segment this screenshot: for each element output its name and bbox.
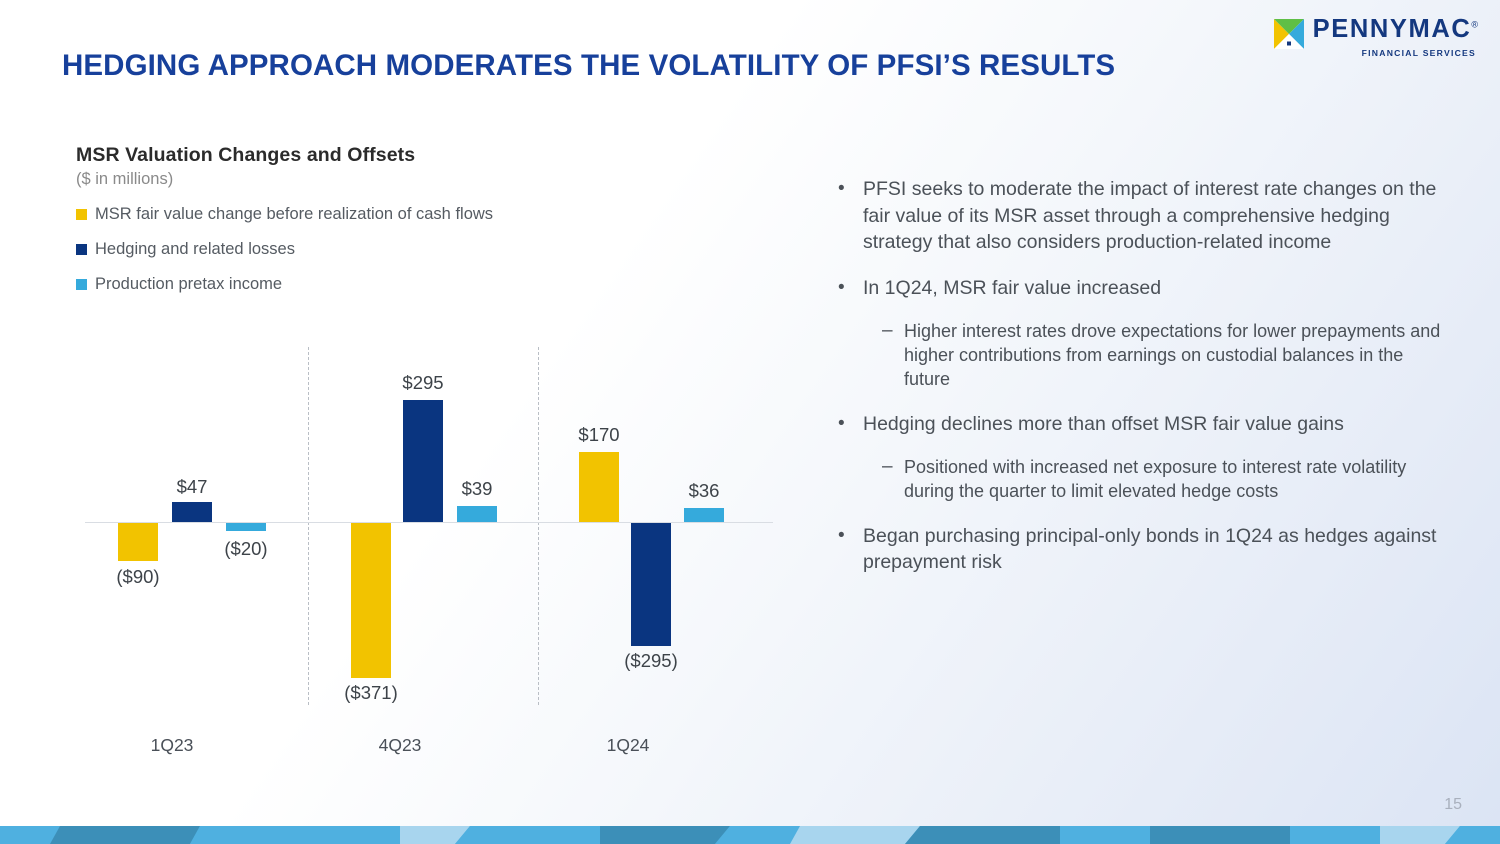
bar-label-1q24-production-pretax: $36	[644, 480, 764, 502]
bar-1q24-msr-fair-value	[579, 452, 619, 522]
logo-wordmark-text: PENNYMAC	[1313, 15, 1472, 43]
bullet-text: PFSI seeks to moderate the impact of int…	[863, 176, 1450, 256]
bar-1q24-hedging-losses	[631, 523, 671, 646]
chart-subtitle: ($ in millions)	[76, 170, 796, 189]
bullet-item: • PFSI seeks to moderate the impact of i…	[838, 176, 1450, 256]
logo-tagline: FINANCIAL SERVICES	[1362, 48, 1476, 58]
group-separator-1	[308, 347, 309, 705]
bar-1q23-msr-fair-value	[118, 523, 158, 561]
chart-title: MSR Valuation Changes and Offsets	[76, 144, 796, 167]
bullet-item-sub: – Positioned with increased net exposure…	[882, 455, 1450, 503]
logo-registered-mark: ®	[1471, 20, 1478, 30]
bullet-marker: •	[838, 523, 863, 576]
page-number: 15	[1444, 796, 1462, 814]
category-label-1q23: 1Q23	[112, 735, 232, 756]
bullet-marker: •	[838, 176, 863, 256]
bar-1q24-production-pretax	[684, 508, 724, 522]
page-title: HEDGING APPROACH MODERATES THE VOLATILIT…	[62, 49, 1115, 83]
bullet-text: Began purchasing principal-only bonds in…	[863, 523, 1450, 576]
bar-1q23-hedging-losses	[172, 502, 212, 522]
bullet-marker-dash: –	[882, 455, 904, 503]
bullet-marker-dash: –	[882, 319, 904, 391]
legend-item-production-pretax: Production pretax income	[76, 275, 796, 294]
bullet-text: In 1Q24, MSR fair value increased	[863, 275, 1450, 302]
bullet-text: Positioned with increased net exposure t…	[904, 455, 1450, 503]
bar-label-4q23-hedging-losses: $295	[363, 372, 483, 394]
pennymac-logo: PENNYMAC® FINANCIAL SERVICES	[1274, 17, 1478, 58]
legend-swatch-icon-yellow	[76, 209, 87, 220]
bar-chart-plot: ($90) $47 ($20) 1Q23 ($371) $295 $39 4Q2…	[76, 330, 796, 780]
category-label-4q23: 4Q23	[340, 735, 460, 756]
bar-4q23-hedging-losses	[403, 400, 443, 522]
bar-label-1q23-msr-fair-value: ($90)	[78, 566, 198, 588]
legend-label-hedging-losses: Hedging and related losses	[95, 240, 295, 259]
bullet-list: • PFSI seeks to moderate the impact of i…	[838, 176, 1450, 595]
bar-4q23-msr-fair-value	[351, 523, 391, 678]
bullet-item: • Began purchasing principal-only bonds …	[838, 523, 1450, 576]
legend-label-production-pretax: Production pretax income	[95, 275, 282, 294]
bar-label-4q23-production-pretax: $39	[417, 478, 537, 500]
legend-item-hedging-losses: Hedging and related losses	[76, 240, 796, 259]
pennymac-diamond-logo-icon	[1274, 19, 1304, 49]
bar-1q23-production-pretax	[226, 523, 266, 531]
bar-4q23-production-pretax	[457, 506, 497, 522]
bullet-marker: •	[838, 411, 863, 438]
bar-label-1q23-hedging-losses: $47	[132, 476, 252, 498]
bullet-marker: •	[838, 275, 863, 302]
bar-label-1q24-hedging-losses: ($295)	[591, 650, 711, 672]
bullet-item: • In 1Q24, MSR fair value increased	[838, 275, 1450, 302]
legend-swatch-icon-cyan	[76, 279, 87, 290]
chart-header-panel: MSR Valuation Changes and Offsets ($ in …	[76, 144, 796, 310]
bullet-text: Hedging declines more than offset MSR fa…	[863, 411, 1450, 438]
group-separator-2	[538, 347, 539, 705]
bullet-item: • Hedging declines more than offset MSR …	[838, 411, 1450, 438]
bar-label-1q23-production-pretax: ($20)	[186, 538, 306, 560]
bottom-decorative-strip	[0, 826, 1500, 844]
bullet-text: Higher interest rates drove expectations…	[904, 319, 1450, 391]
legend-swatch-icon-navy	[76, 244, 87, 255]
category-label-1q24: 1Q24	[568, 735, 688, 756]
bar-label-1q24-msr-fair-value: $170	[539, 424, 659, 446]
legend-item-msr-fair-value: MSR fair value change before realization…	[76, 205, 796, 224]
bar-label-4q23-msr-fair-value: ($371)	[311, 682, 431, 704]
legend-label-msr-fair-value: MSR fair value change before realization…	[95, 205, 493, 224]
chart-legend: MSR fair value change before realization…	[76, 205, 796, 294]
logo-wordmark: PENNYMAC®	[1313, 17, 1478, 43]
bullet-item-sub: – Higher interest rates drove expectatio…	[882, 319, 1450, 391]
